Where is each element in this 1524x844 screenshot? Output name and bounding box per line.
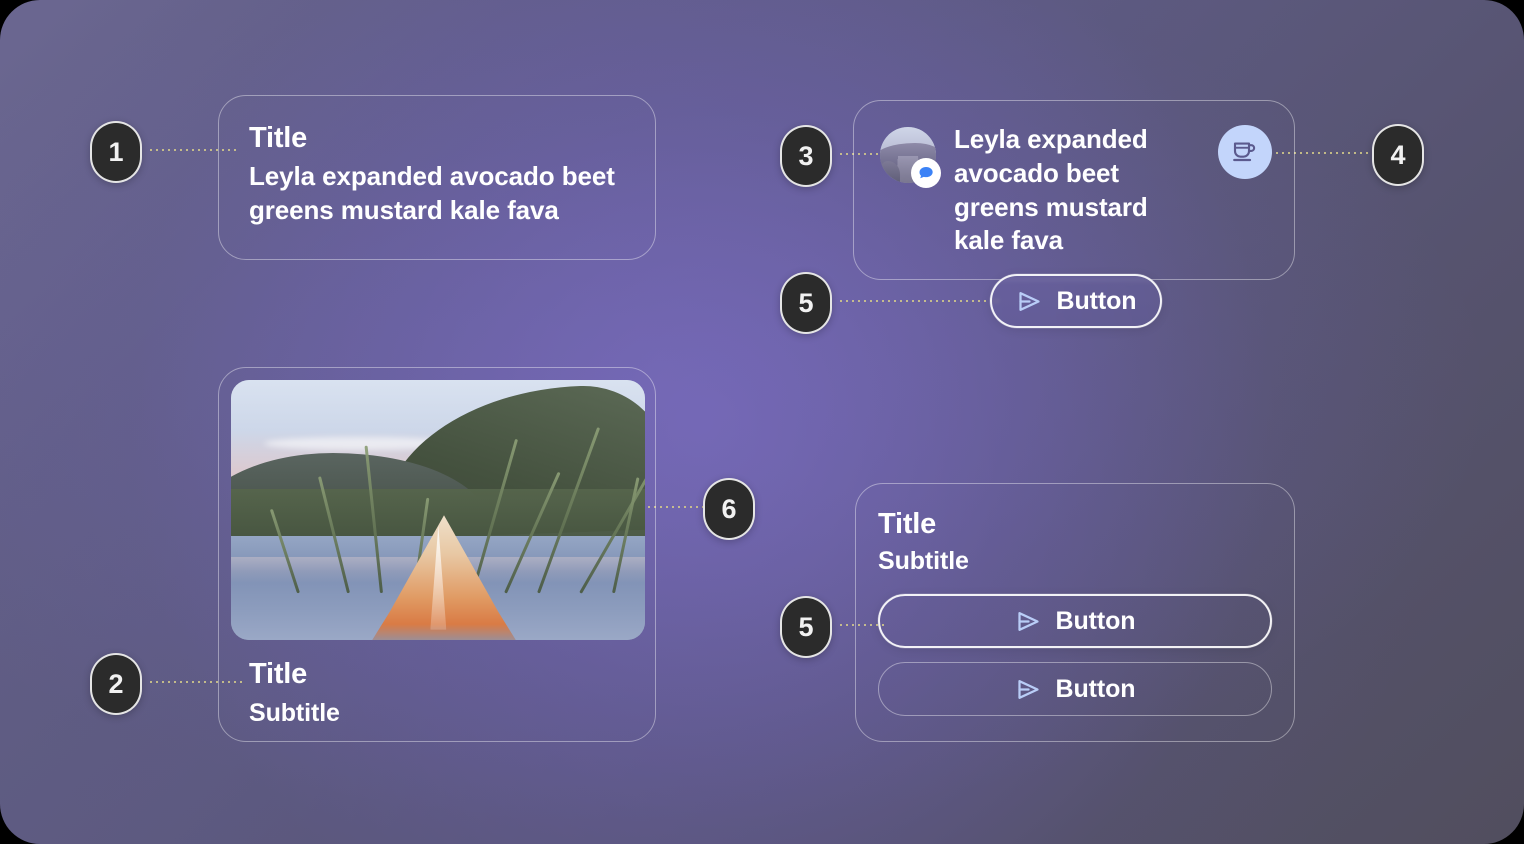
actions-card-subtitle: Subtitle — [878, 546, 1272, 576]
actions-card-title: Title — [878, 508, 1272, 540]
message-card-avatar[interactable] — [880, 127, 936, 183]
send-triangle-icon — [1015, 608, 1042, 635]
image-card-title: Title — [249, 658, 625, 690]
callout-badge-5-actions[interactable]: 5 — [780, 596, 832, 658]
actions-card-button-2[interactable]: Button — [878, 662, 1272, 716]
coffee-cup-icon[interactable] — [1218, 125, 1272, 179]
send-triangle-icon — [1016, 288, 1043, 315]
connector-line-5a — [838, 300, 1000, 302]
callout-badge-3[interactable]: 3 — [780, 125, 832, 187]
message-card-button[interactable]: Button — [990, 274, 1162, 328]
callout-badge-2[interactable]: 2 — [90, 653, 142, 715]
callout-badge-1[interactable]: 1 — [90, 121, 142, 183]
message-card[interactable]: Leyla expanded avocado beet greens musta… — [853, 100, 1295, 280]
actions-card-button-1[interactable]: Button — [878, 594, 1272, 648]
chat-bubble-icon — [911, 158, 941, 188]
callout-badge-4[interactable]: 4 — [1372, 124, 1424, 186]
message-card-body: Leyla expanded avocado beet greens musta… — [954, 123, 1192, 258]
actions-card[interactable]: Title Subtitle Button Button — [855, 483, 1295, 742]
image-card-subtitle: Subtitle — [249, 698, 625, 728]
callout-badge-5-message[interactable]: 5 — [780, 272, 832, 334]
image-card-photo — [231, 380, 645, 640]
actions-card-button-1-label: Button — [1056, 607, 1136, 636]
annotated-component-canvas: Title Leyla expanded avocado beet greens… — [0, 0, 1524, 844]
message-card-button-label: Button — [1057, 287, 1137, 316]
callout-badge-6[interactable]: 6 — [703, 478, 755, 540]
actions-card-button-2-label: Button — [1056, 675, 1136, 704]
text-card[interactable]: Title Leyla expanded avocado beet greens… — [218, 95, 656, 260]
send-triangle-icon — [1015, 676, 1042, 703]
image-card[interactable]: Title Subtitle — [218, 367, 656, 742]
text-card-body: Leyla expanded avocado beet greens musta… — [249, 160, 639, 228]
text-card-title: Title — [249, 122, 625, 154]
image-card-caption: Title Subtitle — [231, 640, 643, 728]
